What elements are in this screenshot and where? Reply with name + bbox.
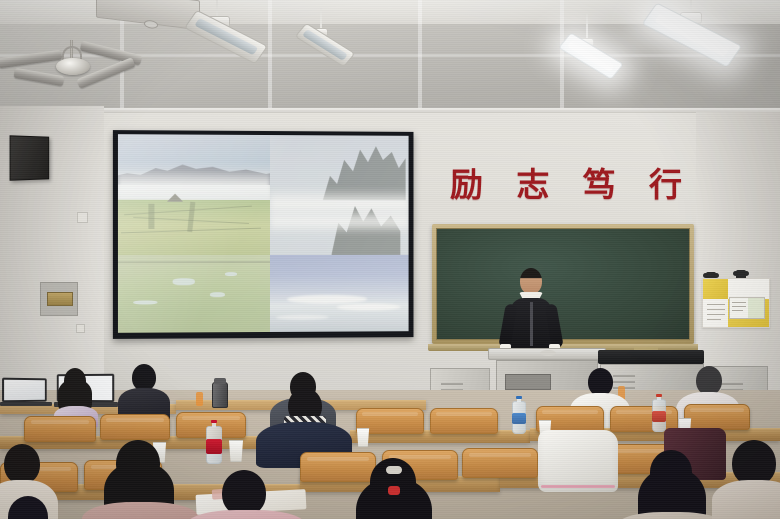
tube-light-1: [188, 8, 264, 80]
ceiling-fan: [20, 28, 130, 88]
juice-bottle[interactable]: [196, 392, 203, 406]
coca-cola-bottle[interactable]: [206, 420, 222, 464]
wall-speaker: [10, 135, 50, 180]
student-front-leftmid: [82, 440, 200, 519]
chair[interactable]: [684, 404, 750, 430]
blackboard: [432, 224, 694, 344]
slogan-char-3: 笃: [583, 158, 616, 206]
tube-light-5: [560, 26, 630, 92]
student-navy-sweater: [256, 388, 352, 454]
white-jacket: [538, 430, 618, 492]
wall-trim: [0, 108, 780, 113]
slide-pane-mountains: [118, 134, 270, 255]
water-bottle-center[interactable]: [512, 396, 526, 434]
blackboard-surface: [436, 228, 690, 340]
red-hair-tie: [388, 486, 400, 495]
light-switch[interactable]: [76, 324, 85, 333]
thermos[interactable]: [212, 382, 228, 408]
bulletin-poster: [702, 278, 770, 328]
laptop-1[interactable]: [0, 378, 52, 408]
paper-cup[interactable]: [228, 440, 244, 462]
av-console-top: [598, 350, 704, 364]
student-ponytail: [330, 458, 456, 519]
slide-pane-water: [270, 255, 408, 332]
student-far-right: [712, 440, 780, 519]
slide-pane-grassland: [118, 255, 270, 333]
student-back-center: [118, 364, 170, 420]
wall-slogan: 励 志 笃 行: [450, 158, 682, 206]
podium-shelf: [505, 374, 551, 390]
tube-light-6: [648, 4, 748, 90]
presenter: [502, 268, 560, 354]
podium-mouse[interactable]: [540, 350, 556, 356]
student-laptop-left: [52, 368, 100, 418]
slogan-char-4: 行: [649, 158, 682, 206]
chair[interactable]: [462, 448, 538, 478]
chair[interactable]: [100, 414, 170, 440]
slogan-char-2: 志: [516, 158, 549, 206]
ceiling-beam: [268, 0, 272, 118]
student-pink-stripe: [186, 470, 306, 519]
hair-band: [386, 466, 402, 474]
slogan-char-1: 励: [450, 158, 483, 206]
projection-screen: [113, 130, 414, 339]
tube-light-2: [296, 18, 358, 80]
student-bottom-right: [0, 496, 60, 519]
av-panel-plate: [47, 292, 73, 306]
poster-note: [729, 297, 765, 319]
projected-slide: [118, 134, 409, 333]
chair[interactable]: [430, 408, 498, 434]
student-right-edge: [616, 450, 726, 519]
chair[interactable]: [24, 416, 96, 442]
light-switch[interactable]: [77, 212, 88, 223]
slide-pane-peaks: [270, 135, 408, 255]
right-wall: [696, 112, 780, 402]
water-bottle-right[interactable]: [652, 394, 666, 432]
presenter-head: [520, 268, 542, 294]
wall-av-panel[interactable]: [40, 282, 78, 316]
paper-cup[interactable]: [356, 428, 370, 447]
classroom-photo: 励 志 笃 行: [0, 0, 780, 519]
